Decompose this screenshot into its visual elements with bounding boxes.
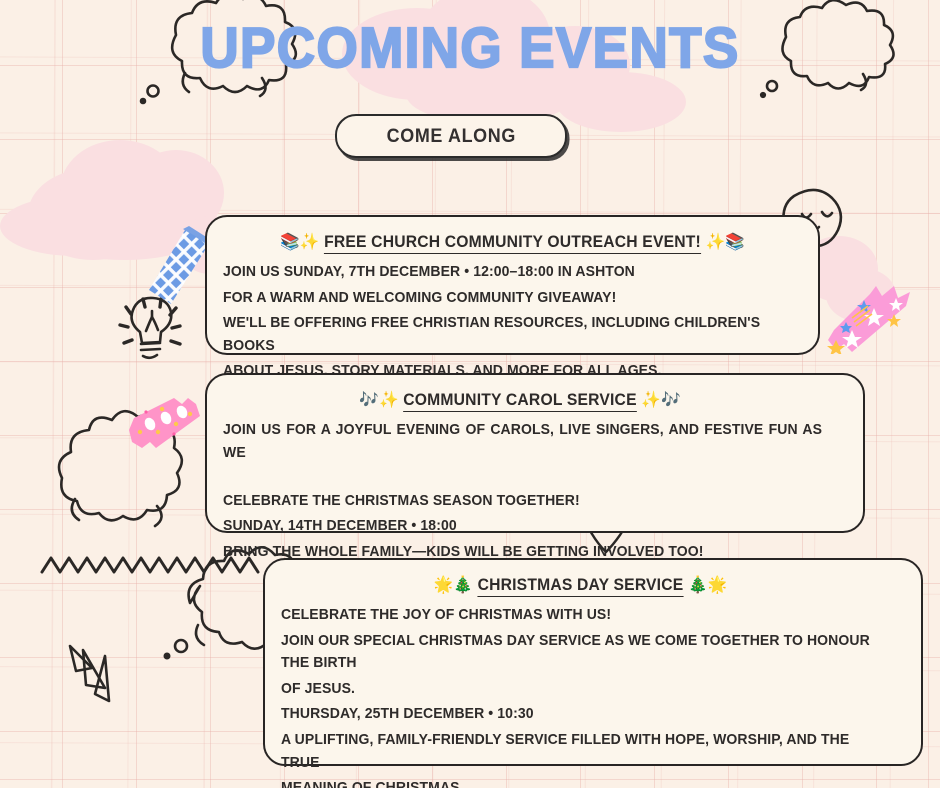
shine-doodle xyxy=(70,646,109,701)
event-line: Join our special Christmas Day service a… xyxy=(281,630,880,675)
event-line: meaning of Christmas. xyxy=(281,777,880,788)
event-card-title: 🌟🎄 Christmas Day Service 🎄🌟 xyxy=(272,575,889,595)
event-card-body: Celebrate the joy of Christmas with us! … xyxy=(281,604,905,788)
poster-canvas: Upcoming Events Come Along 📚✨ Free Churc… xyxy=(0,0,940,788)
music-notes-sparkle-icon: 🎶✨ xyxy=(359,390,398,409)
event-line: Sunday, 14th December • 18:00 xyxy=(223,515,822,538)
event-line: celebrate the Christmas season together! xyxy=(223,490,822,513)
star-tree-icon: 🌟🎄 xyxy=(434,575,473,594)
sparkle-books-icon: ✨📚 xyxy=(705,232,744,251)
event-card-christmas-day[interactable]: 🌟🎄 Christmas Day Service 🎄🌟 Celebrate th… xyxy=(263,558,923,766)
event-card-outreach[interactable]: 📚✨ Free Church Community Outreach Event!… xyxy=(205,215,820,355)
event-title-text: Christmas Day Service xyxy=(478,576,684,597)
washi-tape-pink-bunny xyxy=(126,396,208,458)
lightbulb-doodle xyxy=(120,298,180,358)
washi-tape-pink-stars xyxy=(822,282,914,354)
event-card-body: Join us for a joyful evening of carols, … xyxy=(223,419,847,564)
come-along-badge[interactable]: Come Along xyxy=(335,114,567,158)
event-line: We'll be offering free Christian resourc… xyxy=(223,312,779,357)
tree-star-icon: 🎄🌟 xyxy=(688,575,727,594)
event-line: for a warm and welcoming community givea… xyxy=(223,287,779,310)
event-line: Thursday, 25th December • 10:30 xyxy=(281,703,880,726)
event-line: Celebrate the joy of Christmas with us! xyxy=(281,604,880,627)
event-card-title: 📚✨ Free Church Community Outreach Event!… xyxy=(237,232,787,252)
event-line: of Jesus. xyxy=(281,678,880,701)
event-line: A uplifting, family-friendly service fil… xyxy=(281,729,880,774)
sparkle-music-notes-icon: ✨🎶 xyxy=(641,390,680,409)
flower-cloud-doodle-left xyxy=(59,411,182,526)
event-line: Join us for a joyful evening of carols, … xyxy=(223,419,822,487)
event-card-title: 🎶✨ Community Carol Service ✨🎶 xyxy=(209,390,830,410)
badge-label: Come Along xyxy=(386,125,515,148)
event-card-body: Join us Sunday, 7th December • 12:00–18:… xyxy=(223,261,802,383)
page-title: Upcoming Events xyxy=(33,20,907,77)
event-card-carol-service[interactable]: 🎶✨ Community Carol Service ✨🎶 Join us fo… xyxy=(205,373,865,533)
event-title-text: Community Carol Service xyxy=(403,391,636,412)
books-sparkle-icon: 📚✨ xyxy=(280,232,319,251)
event-title-text: Free Church Community Outreach Event! xyxy=(324,233,701,254)
event-line: Join us Sunday, 7th December • 12:00–18:… xyxy=(223,261,779,284)
